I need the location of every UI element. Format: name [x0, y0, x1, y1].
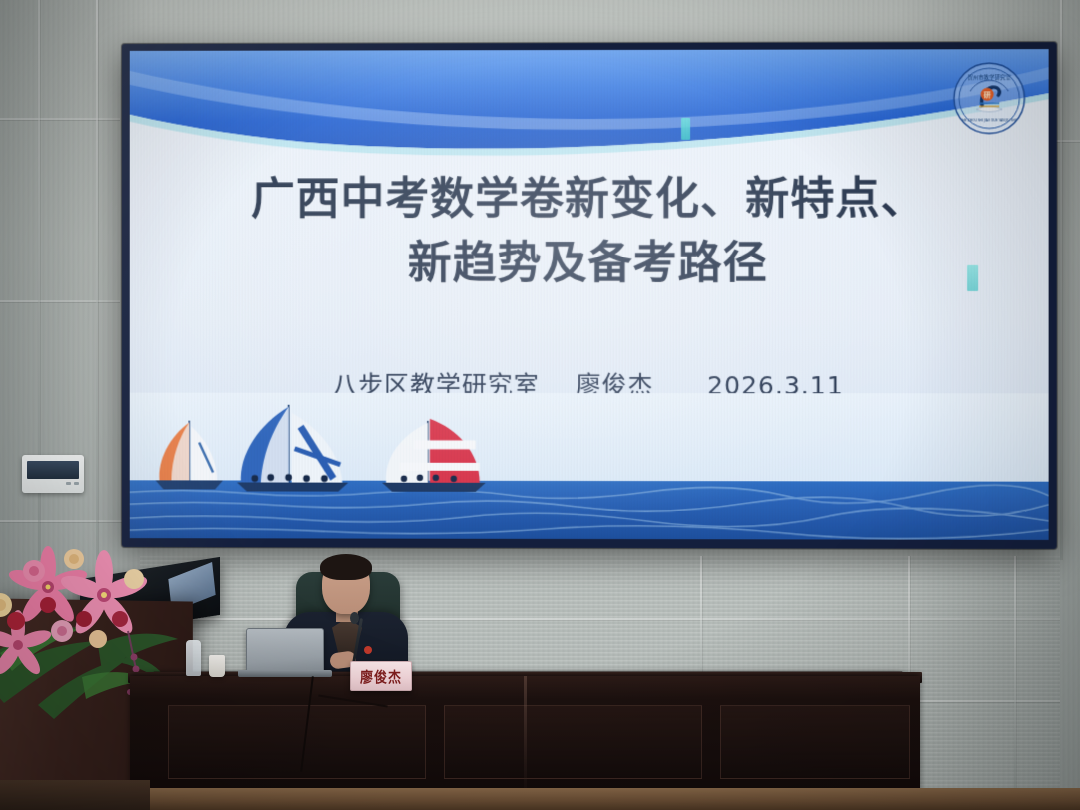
conference-room-scene: 贺州市教学研究室 HE ZHOU SHI JIAO XUE YAN JIU SH… — [0, 0, 1080, 810]
school-crest-graphic: 贺州市教学研究室 HE ZHOU SHI JIAO XUE YAN JIU SH… — [952, 61, 1026, 135]
desk-panel — [444, 705, 702, 779]
sailboat-graphic — [130, 393, 1049, 540]
control-panel-display — [27, 461, 79, 479]
led-indicator — [66, 482, 71, 485]
presentation-slide: 贺州市教学研究室 HE ZHOU SHI JIAO XUE YAN JIU SH… — [130, 49, 1049, 540]
slide-wave-header — [130, 49, 1049, 182]
wave-graphic — [130, 49, 1049, 182]
teal-accent-mark — [681, 118, 690, 140]
svg-text:贺州市教学研究室: 贺州市教学研究室 — [968, 73, 1012, 81]
desk-seam — [524, 676, 527, 794]
desk-panel — [168, 705, 426, 779]
control-panel-indicators — [27, 482, 79, 485]
led-display-screen: 贺州市教学研究室 HE ZHOU SHI JIAO XUE YAN JIU SH… — [122, 42, 1057, 549]
sailboat-regatta-photo — [130, 393, 1049, 540]
laptop-base — [238, 670, 332, 677]
nameplate-text: 廖俊杰 — [360, 665, 402, 686]
led-indicator — [74, 482, 79, 485]
slide-title: 广西中考数学卷新变化、新特点、 新趋势及备考路径 — [130, 168, 1049, 296]
school-crest-logo: 贺州市教学研究室 HE ZHOU SHI JIAO XUE YAN JIU SH… — [952, 61, 1026, 135]
wall-control-panel[interactable] — [22, 455, 84, 493]
floor-left-shadow — [0, 780, 150, 810]
presenter-hair — [320, 554, 372, 580]
silver-laptop[interactable] — [246, 628, 324, 672]
presenter-nameplate: 廖俊杰 — [350, 661, 412, 691]
floor-strip — [0, 788, 1080, 810]
svg-text:研: 研 — [984, 91, 991, 99]
water-bottle — [186, 640, 201, 676]
microphone-head — [350, 612, 359, 624]
slide-title-line2: 新趋势及备考路径 — [130, 232, 1049, 296]
svg-text:HE ZHOU SHI JIAO XUE YAN JIU S: HE ZHOU SHI JIAO XUE YAN JIU SHI — [962, 118, 1016, 122]
presenter-lapel-pin — [364, 646, 372, 654]
slide-title-line1: 广西中考数学卷新变化、新特点、 — [251, 174, 926, 226]
desk-panel — [720, 705, 910, 779]
paper-cup — [209, 655, 225, 677]
